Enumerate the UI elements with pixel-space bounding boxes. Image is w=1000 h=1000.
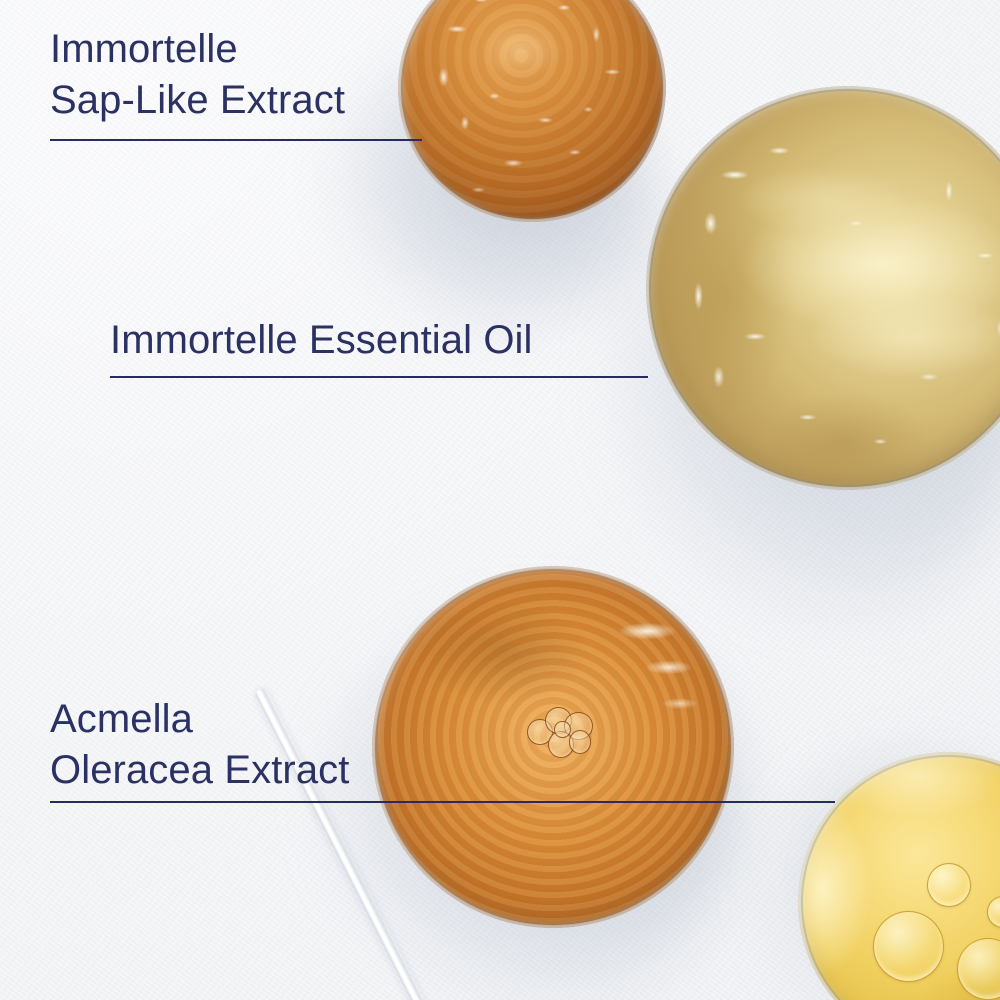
ingredient-infographic: Immortelle Sap-Like Extract Soothes skin… [0,0,1000,1000]
section-sap-like-extract: Immortelle Sap-Like Extract [50,24,430,126]
section-heading: Immortelle Essential Oil [110,315,650,366]
section-essential-oil: Immortelle Essential Oil [110,315,650,366]
section-acmella-oleracea-extract: Acmella Oleracea Extract [50,694,430,796]
section-heading: Immortelle Sap-Like Extract [50,24,430,126]
section-divider-acmella [50,801,835,803]
oil-bubble [927,863,971,907]
section-divider-essential-oil [110,376,648,378]
section-divider-sap [50,139,422,141]
section-heading: Acmella Oleracea Extract [50,694,430,796]
oil-bubble [873,911,944,982]
droplet-cluster [524,704,604,762]
